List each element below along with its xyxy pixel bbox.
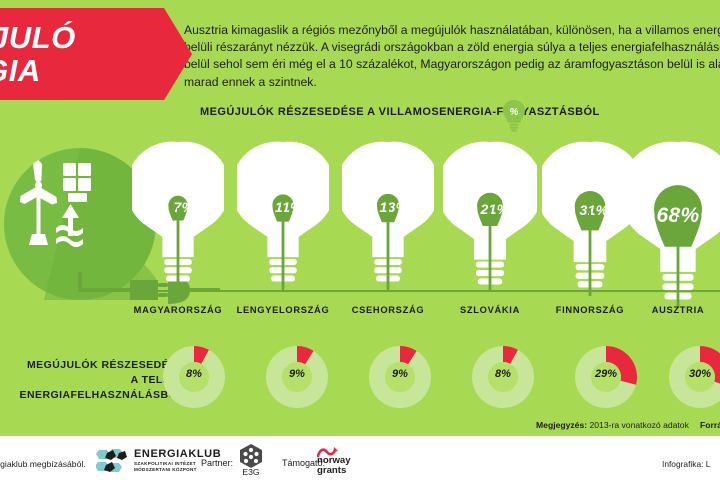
bulb-wire-drop [489,210,491,290]
intro-line: belüli részarányt nézzük. A visegrádi or… [184,39,720,56]
donut-lengyelország: 9% [264,344,330,410]
energiaklub-sub-2: MÓDSZERTANI KÖZPONT [134,468,221,473]
intro-line: marad ennek a szintnek. [184,74,720,91]
footer-commission-text: Energiaklub megbízásából. [0,459,86,469]
intro-line: belül sehol sem éri még el a 10 százalék… [184,56,720,73]
donut-magyarország: 8% [161,344,227,410]
donut-percent-label: 9% [367,368,433,380]
intro-paragraph: Ausztria kimagaslik a régiós mezőnyből a… [184,22,720,91]
bulb-wire-drop [387,208,389,290]
country-label-ausztria: AUSZTRIA [613,305,720,315]
bulb-wire-drop [589,211,591,290]
donut-finnország: 29% [573,344,639,410]
donut-percent-label: 8% [161,368,227,380]
total-heading-line-2: A TELJES ENERGIAFELHASZNÁLÁSBÓL [20,374,184,401]
bulb-wire-drop [677,217,679,290]
norway-grants-name: norway grants [317,456,351,476]
title-line-2: ENERGIA [0,54,164,87]
donut-csehország: 9% [367,344,433,410]
bulb-percent-label: 68% [626,204,720,228]
bulb-percent-label: 21% [443,201,547,217]
donut-szlovákia: 8% [470,344,536,410]
donut-ausztria: 30% [667,344,720,410]
electricity-section-heading: MEGÚJULÓK RÉSZESEDÉSE A VILLAMOSENERGIA-… [200,106,600,118]
norway-line-2: grants [317,466,351,476]
e3g-name: E3G [238,467,264,477]
bulb-ausztria: 68% [626,140,720,302]
partner-label: Partner: [201,458,233,468]
total-energy-section-heading: MEGÚJULÓK RÉSZESEDÉSE A TELJES ENERGIAFE… [0,358,184,403]
source-label: Forrás: [700,420,720,430]
title-banner-arrow [164,8,192,100]
lightbulb-icon: % [500,98,528,132]
donut-percent-label: 30% [667,368,720,380]
bulb-wire-drop [177,208,179,290]
intro-line: Ausztria kimagaslik a régiós mezőnyből a… [184,22,720,39]
donut-percent-label: 9% [264,368,330,380]
infographic-credit: Infografika: L [662,459,710,469]
note-value: 2013-ra vonatkozó adatok [587,420,689,430]
title-line-1: MEGÚJULÓ [0,21,164,54]
bulb-percent-label: 13% [342,199,446,215]
bulb-wire-drop [282,208,284,290]
energiaklub-logo-icon [96,448,130,474]
wind-turbine-icon [20,160,57,245]
donut-percent-label: 29% [573,368,639,380]
note-text: Megjegyzés: 2013-ra vonatkozó adatok [536,420,689,430]
svg-text:%: % [510,107,519,118]
title-banner: MEGÚJULÓ ENERGIA [0,8,164,100]
e3g-logo-icon [238,444,264,468]
note-label: Megjegyzés: [536,420,587,430]
donut-percent-label: 8% [470,368,536,380]
bulb-percent-label: 11% [237,199,341,215]
bulb-percent-label: 7% [132,199,236,215]
